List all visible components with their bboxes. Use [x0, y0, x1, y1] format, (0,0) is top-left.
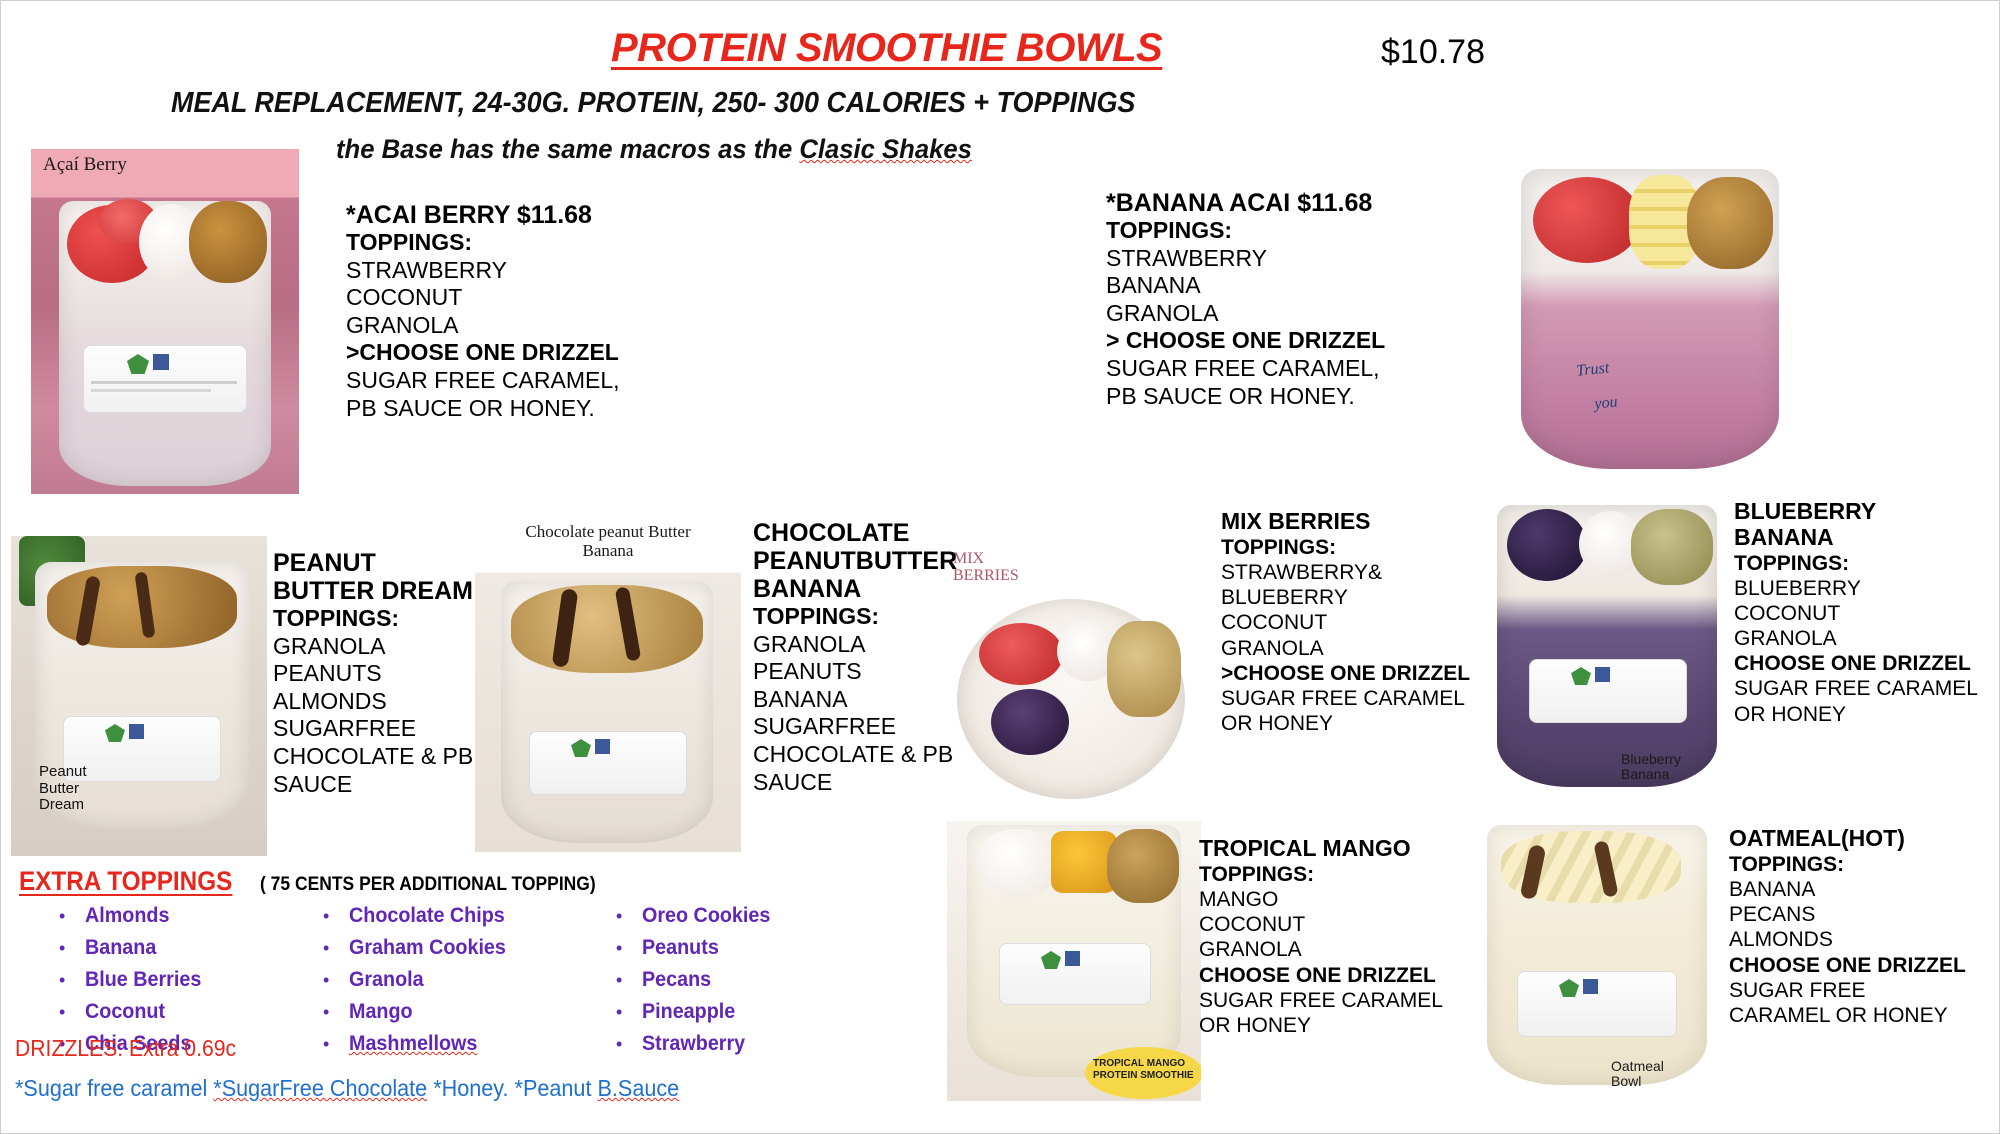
- item-drizzel-option: SUGAR FREE CARAMEL: [1199, 988, 1469, 1013]
- photo-blueberry-banana: Blueberry Banana: [1481, 499, 1733, 801]
- extra-topping-label: Pineapple: [642, 1000, 735, 1024]
- extra-topping-label: Coconut: [85, 1000, 165, 1024]
- item-topping: COCONUT: [1199, 912, 1469, 937]
- item-name: *BANANA ACAI $11.68: [1106, 189, 1466, 217]
- item-topping: SUGARFREE: [753, 713, 968, 741]
- extra-topping-label: Chocolate Chips: [349, 904, 505, 928]
- menu-item-oatmeal-hot: OATMEAL(HOT) TOPPINGS: BANANA PECANS ALM…: [1729, 826, 1999, 1028]
- drizzles-options-line: *Sugar free caramel *SugarFree Chocolate…: [15, 1075, 679, 1102]
- extra-topping-label: Almonds: [85, 904, 169, 928]
- extra-toppings-header: EXTRA TOPPINGS( 75 CENTS PER ADDITIONAL …: [19, 866, 625, 897]
- item-drizzel-option: OR HONEY: [1734, 702, 2000, 727]
- item-topping: CHOCOLATE & PB: [753, 741, 968, 769]
- item-drizzel-option: CARAMEL OR HONEY: [1729, 1003, 1999, 1028]
- item-topping: STRAWBERRY: [346, 257, 686, 285]
- drizzle-option-sugarfree-chocolate: *SugarFree Chocolate: [213, 1075, 427, 1101]
- bullet-icon: •: [616, 939, 642, 957]
- menu-item-mix-berries: MIX BERRIES TOPPINGS: STRAWBERRY& BLUEBE…: [1221, 509, 1491, 736]
- item-drizzel-option: SUGAR FREE: [1729, 978, 1999, 1003]
- item-topping: BANANA: [753, 686, 968, 714]
- menu-item-banana-acai: *BANANA ACAI $11.68 TOPPINGS: STRAWBERRY…: [1106, 189, 1466, 410]
- menu-item-chocolate-peanutbutter-banana: CHOCOLATE PEANUTBUTTER BANANA TOPPINGS: …: [753, 519, 968, 796]
- item-drizzel-label: >CHOOSE ONE DRIZZEL: [346, 339, 686, 367]
- extra-topping-item: •Chocolate Chips: [323, 904, 573, 936]
- extra-toppings-column-2: •Chocolate Chips •Graham Cookies •Granol…: [323, 904, 573, 1064]
- bullet-icon: •: [616, 1035, 642, 1053]
- item-topping: COCONUT: [346, 284, 686, 312]
- photo-mix-berries: MIX BERRIES: [945, 549, 1195, 807]
- drizzle-option-bsauce: B.Sauce: [597, 1075, 679, 1101]
- item-drizzel-option: SUGAR FREE CARAMEL: [1734, 676, 2000, 701]
- photo-caption-peanut-butter-dream: Peanut Butter Dream: [39, 764, 87, 814]
- menu-item-tropical-mango: TROPICAL MANGO TOPPINGS: MANGO COCONUT G…: [1199, 836, 1469, 1038]
- extra-topping-label: Mashmellows: [349, 1032, 477, 1056]
- item-topping: STRAWBERRY&: [1221, 560, 1491, 585]
- item-topping: SAUCE: [273, 771, 483, 799]
- extra-topping-label: Oreo Cookies: [642, 904, 770, 928]
- bullet-icon: •: [323, 1035, 349, 1053]
- photo-tropical-mango: TROPICAL MANGO PROTEIN SMOOTHIE: [947, 821, 1201, 1101]
- item-topping: COCONUT: [1734, 601, 2000, 626]
- item-toppings-label: TOPPINGS:: [273, 605, 483, 633]
- item-topping: BANANA: [1106, 272, 1466, 300]
- item-topping: GRANOLA: [346, 312, 686, 340]
- extra-topping-label: Graham Cookies: [349, 936, 506, 960]
- extra-topping-item: •Mango: [323, 1000, 573, 1032]
- photo-caption-tropical-mango: TROPICAL MANGO PROTEIN SMOOTHIE: [1093, 1058, 1194, 1081]
- extra-topping-item: •Graham Cookies: [323, 936, 573, 968]
- item-drizzel-label: > CHOOSE ONE DRIZZEL: [1106, 327, 1466, 355]
- extra-topping-item: •Pecans: [616, 968, 866, 1000]
- item-name: *ACAI BERRY $11.68: [346, 201, 686, 229]
- photo-banana-acai: Trust you: [1491, 151, 1811, 491]
- item-topping: GRANOLA: [273, 633, 483, 661]
- photo-peanut-butter-dream: Peanut Butter Dream: [11, 536, 267, 856]
- bullet-icon: •: [323, 939, 349, 957]
- extra-topping-label: Blue Berries: [85, 968, 201, 992]
- item-topping: SAUCE: [753, 769, 968, 797]
- item-name: TROPICAL MANGO: [1199, 836, 1469, 862]
- extra-toppings-column-3: •Oreo Cookies •Peanuts •Pecans •Pineappl…: [616, 904, 866, 1064]
- item-toppings-label: TOPPINGS:: [1106, 217, 1466, 245]
- item-toppings-label: TOPPINGS:: [1734, 551, 2000, 576]
- item-toppings-label: TOPPINGS:: [1221, 535, 1491, 560]
- extra-topping-label: Strawberry: [642, 1032, 745, 1056]
- item-topping: STRAWBERRY: [1106, 245, 1466, 273]
- item-drizzel-option: SUGAR FREE CARAMEL: [1221, 686, 1491, 711]
- page-title: PROTEIN SMOOTHIE BOWLS: [611, 26, 1162, 71]
- bullet-icon: •: [616, 907, 642, 925]
- bullet-icon: •: [59, 1003, 85, 1021]
- drizzle-option-honey-peanut: *Honey. *Peanut: [427, 1075, 597, 1101]
- bullet-icon: •: [59, 939, 85, 957]
- extra-topping-item: •Mashmellows: [323, 1032, 573, 1064]
- item-drizzel-option: PB SAUCE OR HONEY.: [1106, 383, 1466, 411]
- item-name: OATMEAL(HOT): [1729, 826, 1999, 852]
- item-topping: GRANOLA: [1106, 300, 1466, 328]
- extra-toppings-title: EXTRA TOPPINGS: [19, 866, 232, 897]
- bullet-icon: •: [616, 971, 642, 989]
- extra-topping-label: Granola: [349, 968, 424, 992]
- extra-topping-item: •Almonds: [59, 904, 289, 936]
- extra-topping-label: Banana: [85, 936, 156, 960]
- item-topping: SUGARFREE: [273, 715, 483, 743]
- item-drizzel-option: SUGAR FREE CARAMEL,: [346, 367, 686, 395]
- bullet-icon: •: [323, 971, 349, 989]
- extra-topping-item: •Pineapple: [616, 1000, 866, 1032]
- item-topping: ALMONDS: [1729, 927, 1999, 952]
- extra-toppings-note: ( 75 CENTS PER ADDITIONAL TOPPING): [260, 874, 596, 896]
- subtitle-macros: MEAL REPLACEMENT, 24-30G. PROTEIN, 250- …: [171, 87, 1135, 120]
- item-topping: BLUEBERRY: [1734, 576, 2000, 601]
- subtitle-base-prefix: the Base has the same macros as the: [336, 134, 799, 164]
- item-topping: ALMONDS: [273, 688, 483, 716]
- item-drizzel-label: CHOOSE ONE DRIZZEL: [1199, 963, 1469, 988]
- item-toppings-label: TOPPINGS:: [346, 229, 686, 257]
- item-topping: GRANOLA: [1734, 626, 2000, 651]
- extra-topping-item: •Oreo Cookies: [616, 904, 866, 936]
- photo-acai-berry: Açaí Berry: [31, 149, 299, 494]
- item-toppings-label: TOPPINGS:: [1729, 852, 1999, 877]
- extra-topping-item: •Strawberry: [616, 1032, 866, 1064]
- item-drizzel-label: CHOOSE ONE DRIZZEL: [1729, 953, 1999, 978]
- extra-topping-item: •Blue Berries: [59, 968, 289, 1000]
- extra-topping-label: Pecans: [642, 968, 711, 992]
- menu-item-blueberry-banana: BLUEBERRY BANANA TOPPINGS: BLUEBERRY COC…: [1734, 499, 2000, 727]
- menu-item-acai-berry: *ACAI BERRY $11.68 TOPPINGS: STRAWBERRY …: [346, 201, 686, 422]
- item-drizzel-option: PB SAUCE OR HONEY.: [346, 395, 686, 423]
- item-toppings-label: TOPPINGS:: [1199, 862, 1469, 887]
- extra-topping-label: Peanuts: [642, 936, 719, 960]
- item-topping: GRANOLA: [1199, 937, 1469, 962]
- item-toppings-label: TOPPINGS:: [753, 603, 968, 631]
- bullet-icon: •: [59, 971, 85, 989]
- item-drizzel-label: >CHOOSE ONE DRIZZEL: [1221, 661, 1491, 686]
- item-drizzel-option: OR HONEY: [1221, 711, 1491, 736]
- photo-oatmeal-bowl: Oatmeal Bowl: [1471, 821, 1723, 1103]
- item-drizzel-option: SUGAR FREE CARAMEL,: [1106, 355, 1466, 383]
- item-topping: CHOCOLATE & PB: [273, 743, 483, 771]
- item-name: CHOCOLATE PEANUTBUTTER BANANA: [753, 519, 968, 603]
- item-topping: COCONUT: [1221, 610, 1491, 635]
- item-name: BLUEBERRY BANANA: [1734, 499, 2000, 551]
- photo-caption-chocolate-pb-banana: Chocolate peanut Butter Banana: [485, 523, 731, 560]
- subtitle-clasic-shakes: Clasic Shakes: [799, 134, 972, 164]
- bullet-icon: •: [59, 907, 85, 925]
- photo-chocolate-pb-banana: Chocolate peanut Butter Banana: [475, 519, 741, 852]
- item-topping: BANANA: [1729, 877, 1999, 902]
- extra-topping-item: •Banana: [59, 936, 289, 968]
- extra-topping-label: Mango: [349, 1000, 413, 1024]
- item-topping: PECANS: [1729, 902, 1999, 927]
- extra-topping-item: •Coconut: [59, 1000, 289, 1032]
- extra-topping-item: •Peanuts: [616, 936, 866, 968]
- bullet-icon: •: [323, 1003, 349, 1021]
- bullet-icon: •: [323, 907, 349, 925]
- subtitle-base-note: the Base has the same macros as the Clas…: [336, 134, 972, 165]
- drizzle-option-sugar-free-caramel: *Sugar free caramel: [15, 1075, 213, 1101]
- item-topping: GRANOLA: [753, 631, 968, 659]
- extra-topping-item: •Granola: [323, 968, 573, 1000]
- item-drizzel-label: CHOOSE ONE DRIZZEL: [1734, 651, 2000, 676]
- photo-caption-oatmeal-bowl: Oatmeal Bowl: [1611, 1059, 1664, 1090]
- item-topping: PEANUTS: [273, 660, 483, 688]
- bullet-icon: •: [616, 1003, 642, 1021]
- item-name: MIX BERRIES: [1221, 509, 1491, 535]
- menu-item-peanut-butter-dream: PEANUT BUTTER DREAM TOPPINGS: GRANOLA PE…: [273, 549, 483, 798]
- photo-caption-blueberry-banana: Blueberry Banana: [1621, 752, 1681, 783]
- item-topping: BLUEBERRY: [1221, 585, 1491, 610]
- item-drizzel-option: OR HONEY: [1199, 1013, 1469, 1038]
- item-name: PEANUT BUTTER DREAM: [273, 549, 483, 605]
- drizzles-price-line: DRIZZLES: Extra 0.69c: [15, 1035, 236, 1062]
- item-topping: PEANUTS: [753, 658, 968, 686]
- menu-page: PROTEIN SMOOTHIE BOWLS $10.78 MEAL REPLA…: [0, 0, 2000, 1134]
- base-price: $10.78: [1381, 33, 1485, 72]
- item-topping: GRANOLA: [1221, 636, 1491, 661]
- item-topping: MANGO: [1199, 887, 1469, 912]
- photo-caption-acai-berry: Açaí Berry: [43, 155, 127, 176]
